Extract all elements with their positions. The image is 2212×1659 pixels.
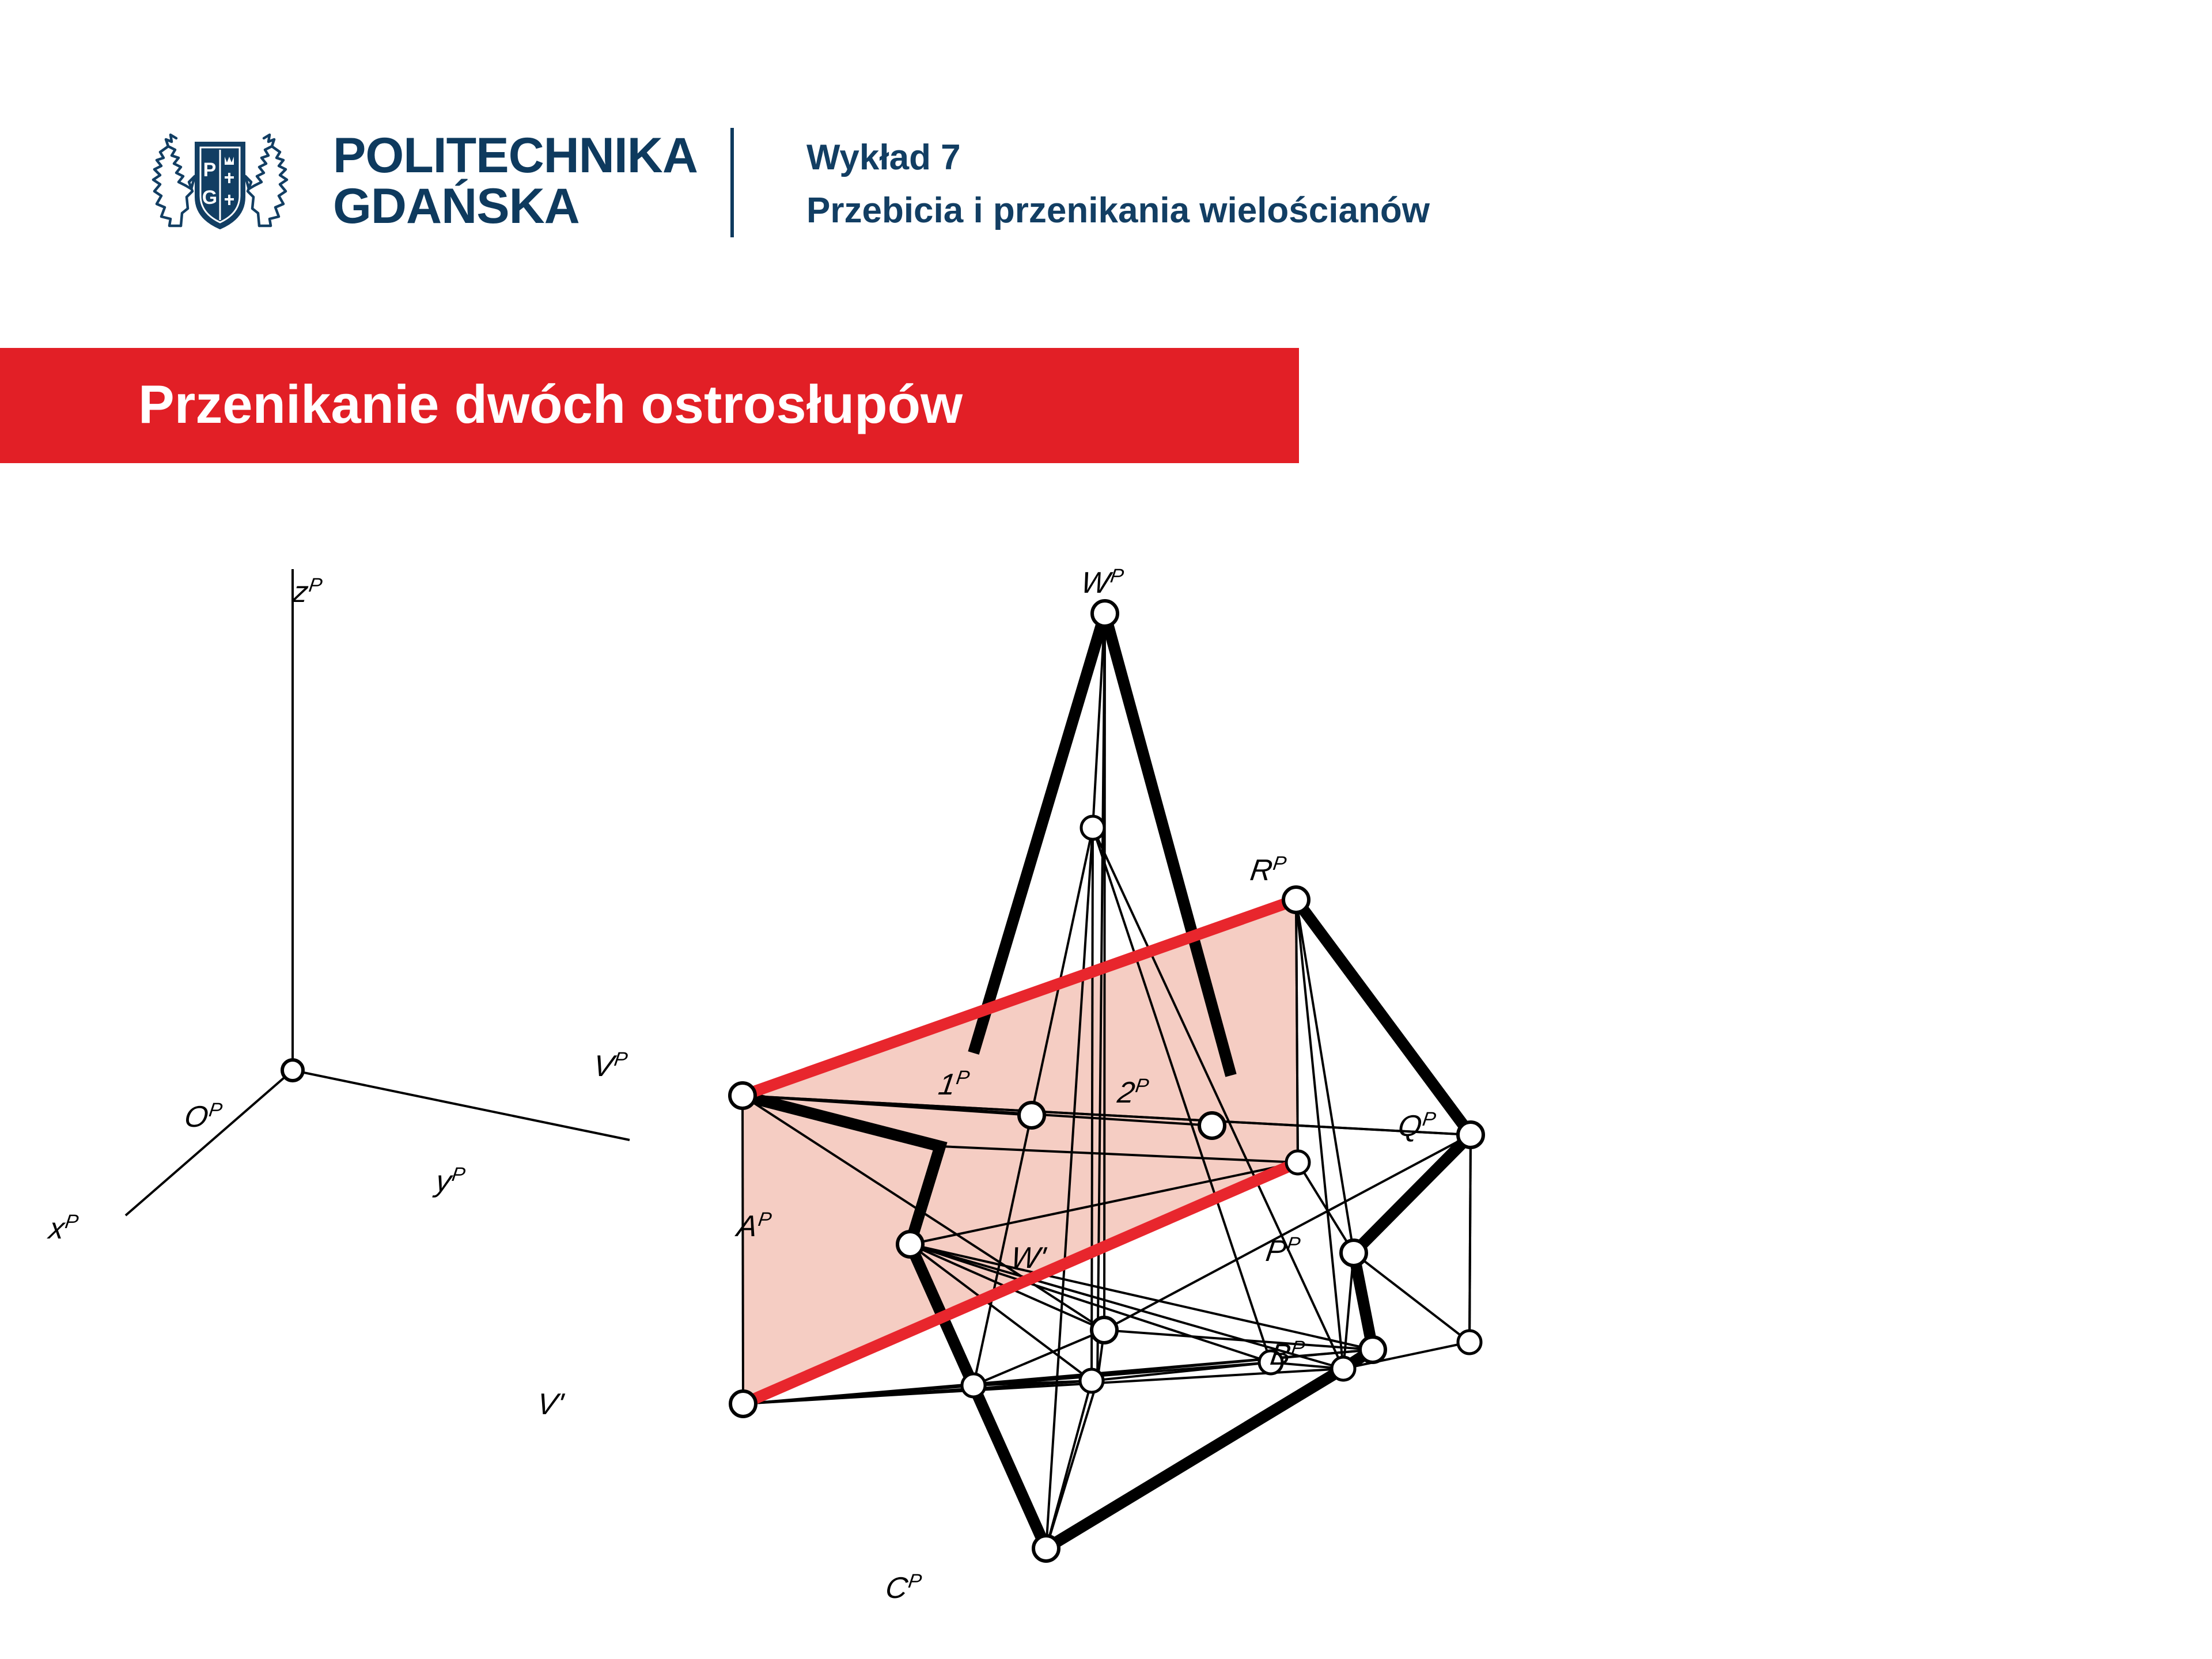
lecture-subject: Przebicia i przenikania wielościanów bbox=[806, 184, 1430, 237]
vertex-label-C: CP bbox=[884, 1570, 923, 1605]
vertex-label-B: BP bbox=[1268, 1337, 1306, 1372]
university-wordmark: POLITECHNIKA GDAŃSKA bbox=[333, 131, 698, 232]
lecture-heading: Wykład 7 Przebicia i przenikania wielośc… bbox=[806, 131, 1430, 237]
vertex-node-W bbox=[1092, 601, 1118, 626]
svg-text:P: P bbox=[203, 159, 217, 181]
axis-label-x: xP bbox=[45, 1211, 79, 1245]
vertex-node-2 bbox=[1199, 1113, 1225, 1138]
vertex-node-W-prime bbox=[1092, 1317, 1117, 1343]
vertex-node-B bbox=[1360, 1337, 1385, 1362]
university-name-line1: POLITECHNIKA bbox=[333, 128, 698, 183]
vertical-divider-icon bbox=[730, 128, 734, 237]
vertex-label-W-prime: W' bbox=[1009, 1241, 1048, 1275]
slide-header: P G POLITECHNIKA GDAŃSKA Wykład 7 Przebi… bbox=[0, 0, 2212, 300]
y-axis-line bbox=[293, 1070, 630, 1140]
vertex-node-P bbox=[1341, 1240, 1366, 1266]
axis-label-y: yP bbox=[432, 1164, 467, 1198]
vertex-label-V: VP bbox=[591, 1048, 629, 1083]
vertex-label-Q: QP bbox=[1396, 1108, 1437, 1143]
axis-label-z: zP bbox=[290, 574, 324, 609]
vertex-node-A bbox=[897, 1232, 923, 1257]
university-name-line2: GDAŃSKA bbox=[333, 179, 579, 234]
section-title: Przenikanie dwóch ostrosłupów bbox=[138, 373, 963, 435]
vertex-node-R bbox=[1283, 887, 1309, 912]
x-axis-line bbox=[126, 1070, 293, 1215]
vertex-label-R: RP bbox=[1248, 853, 1288, 887]
vertex-node-V bbox=[730, 1083, 755, 1108]
origin-node bbox=[282, 1060, 303, 1081]
vertex-node-Q bbox=[1458, 1122, 1483, 1147]
vertex-label-P: PP bbox=[1264, 1233, 1302, 1268]
axis-label-origin: OP bbox=[183, 1099, 224, 1134]
vertex-node-V-prime bbox=[730, 1391, 756, 1416]
pg-coat-of-arms-icon: P G bbox=[134, 127, 306, 236]
svg-text:G: G bbox=[202, 187, 217, 209]
technical-drawing: zP OP yP xP WP RP QP PP BP CP AP VP V' W… bbox=[0, 472, 2212, 1659]
vertex-label-V-prime: V' bbox=[535, 1388, 567, 1421]
university-logo-block: P G POLITECHNIKA GDAŃSKA bbox=[134, 127, 698, 236]
vertex-node-1 bbox=[1019, 1103, 1044, 1128]
lecture-number: Wykład 7 bbox=[806, 131, 1430, 184]
vertex-node-C bbox=[1033, 1536, 1059, 1561]
vertex-label-W: WP bbox=[1079, 565, 1125, 600]
